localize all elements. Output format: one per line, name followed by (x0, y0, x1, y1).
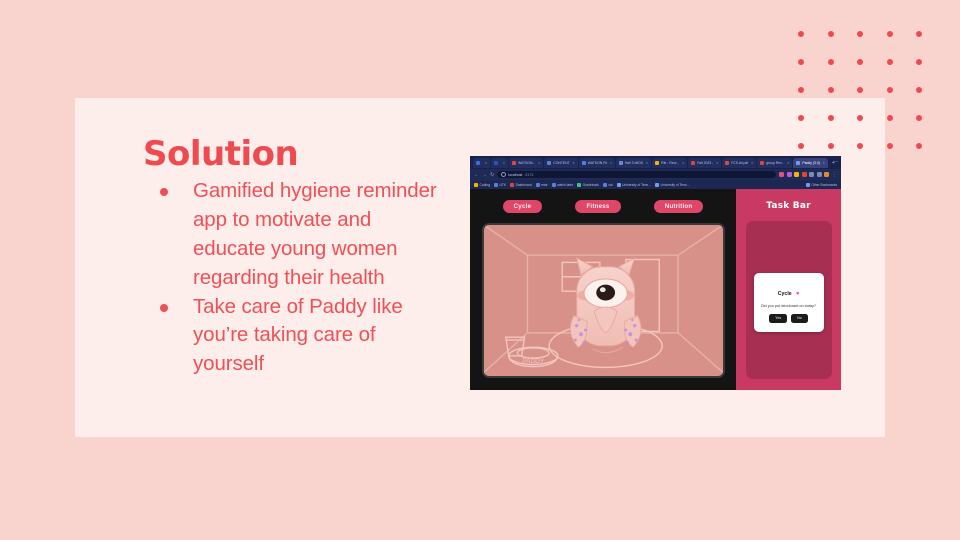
task-card[interactable]: Cycle ♥ Did you put deodorant on today? … (754, 273, 824, 332)
bowl-label: PADDY (522, 358, 545, 365)
paddy-room-illustration: PADDY (484, 225, 723, 376)
other-bookmarks-label: Other Bookmarks (811, 183, 837, 187)
bookmark-item[interactable]: Coding (474, 183, 490, 187)
bullet-text: Take care of Paddy like you’re taking ca… (193, 295, 403, 376)
tab-favicon-icon (619, 161, 623, 165)
bookmark-favicon-icon (603, 183, 607, 187)
decorative-dot (916, 87, 922, 93)
bookmark-label: val (608, 183, 612, 187)
decorative-dot (887, 31, 893, 37)
tab-title: File - Recr... (661, 161, 679, 165)
browser-tab[interactable]: Hall 3 M/DS× (616, 158, 651, 168)
no-button[interactable]: No (791, 314, 808, 323)
extension-icon-row[interactable] (779, 172, 829, 177)
decorative-dot (798, 87, 804, 93)
browser-tab[interactable]: Fall 2023 -× (688, 158, 721, 168)
tab-close-icon[interactable]: × (573, 161, 575, 165)
reload-icon[interactable]: ↻ (490, 172, 494, 178)
forward-icon[interactable]: → (482, 172, 487, 178)
browser-tab-active[interactable]: Paddy (3.0)× (793, 158, 828, 168)
heart-icon: ♥ (796, 291, 799, 297)
browser-tab[interactable]: group Rev...× (757, 158, 792, 168)
task-card-question: Did you put deodorant on today? (759, 304, 819, 309)
extension-icon[interactable] (802, 172, 807, 177)
tab-title: Paddy (3.0) (802, 161, 820, 165)
tab-favicon-icon (582, 161, 586, 165)
task-card-header: Cycle ♥ (759, 282, 819, 300)
browser-tab-strip[interactable]: ××WATSON...×CONTENT×WATSON Fit×Hall 3 M/… (470, 156, 841, 169)
decorative-dot (828, 87, 834, 93)
decorative-dot (828, 31, 834, 37)
decorative-dot (798, 31, 804, 37)
decorative-dot (887, 143, 893, 149)
tab-title: CONTENT (553, 161, 569, 165)
bookmark-item[interactable]: watch later (552, 183, 573, 187)
bookmark-favicon-icon (552, 183, 556, 187)
decorative-dot (857, 87, 863, 93)
tab-favicon-icon (691, 161, 695, 165)
browser-tab[interactable]: × (491, 158, 508, 168)
task-list-container: Cycle ♥ Did you put deodorant on today? … (746, 221, 832, 379)
tab-favicon-icon (476, 161, 480, 165)
extension-icon[interactable] (779, 172, 784, 177)
app-nav-buttons[interactable]: CycleFitnessNutrition (470, 189, 736, 223)
extension-icon[interactable] (817, 172, 822, 177)
decorative-dot (798, 59, 804, 65)
tab-close-icon[interactable]: × (751, 161, 753, 165)
bookmark-label: Gradebook (583, 183, 599, 187)
window-minimize-icon[interactable]: — (834, 158, 838, 163)
web-app-body: CycleFitnessNutrition (470, 189, 841, 390)
url-path: :5173 (524, 173, 533, 177)
browser-tab[interactable]: CONTENT× (544, 158, 577, 168)
bullet-text: Gamified hygiene reminder app to motivat… (193, 179, 437, 288)
extension-icon[interactable] (809, 172, 814, 177)
tab-close-icon[interactable]: × (682, 161, 684, 165)
bookmark-label: watch later (557, 183, 573, 187)
bookmark-label: Coding (480, 183, 490, 187)
tab-title: Hall 3 M/DS (625, 161, 643, 165)
bookmark-label: mstr (541, 183, 547, 187)
tab-favicon-icon (725, 161, 729, 165)
bookmark-item[interactable]: Gradebook (577, 183, 599, 187)
bookmark-item[interactable]: Dashboard (510, 183, 532, 187)
bookmark-item[interactable]: University of Tenn... (617, 183, 651, 187)
bullet-item: Gamified hygiene reminder app to motivat… (143, 177, 443, 292)
nav-button-fitness[interactable]: Fitness (575, 200, 620, 213)
extension-icon[interactable] (787, 172, 792, 177)
task-card-actions: Yes No (759, 314, 819, 323)
nav-button-nutrition[interactable]: Nutrition (654, 200, 704, 213)
tab-title: FCS.txt.pdf (731, 161, 748, 165)
folder-icon (806, 183, 810, 187)
app-main-area: CycleFitnessNutrition (470, 189, 736, 390)
bookmark-item[interactable]: University of Tenn... (655, 183, 689, 187)
site-info-icon[interactable] (501, 172, 506, 177)
bookmark-label: University of Tenn... (661, 183, 690, 187)
decorative-dot (916, 115, 922, 121)
tab-favicon-icon (547, 161, 551, 165)
tab-close-icon[interactable]: × (646, 161, 648, 165)
task-bar-title: Task Bar (766, 201, 811, 211)
extension-icon[interactable] (824, 172, 829, 177)
task-card-title: Cycle (778, 291, 792, 297)
browser-tab[interactable]: WATSON...× (509, 158, 543, 168)
bookmark-label: Dashboard (516, 183, 532, 187)
task-bar-panel: Task Bar Cycle ♥ Did you put deodorant o… (736, 189, 841, 390)
decorative-dot (916, 143, 922, 149)
decorative-dot (857, 31, 863, 37)
bookmark-favicon-icon (536, 183, 540, 187)
tab-favicon-icon (494, 161, 498, 165)
tab-title: WATSON... (518, 161, 535, 165)
tab-favicon-icon (512, 161, 516, 165)
decorative-dot (887, 87, 893, 93)
decorative-dot (857, 59, 863, 65)
browser-menu-icon[interactable]: ⋮ (832, 172, 837, 178)
bullet-list: Gamified hygiene reminder app to motivat… (143, 177, 443, 379)
bullet-dot-icon (160, 188, 168, 196)
bookmark-favicon-icon (577, 183, 581, 187)
tab-close-icon[interactable]: × (716, 161, 718, 165)
tab-close-icon[interactable]: × (610, 161, 612, 165)
decorative-dot (828, 59, 834, 65)
bookmark-favicon-icon (655, 183, 659, 187)
bookmark-item[interactable]: val (603, 183, 613, 187)
tab-close-icon[interactable]: × (485, 161, 487, 165)
decorative-dot (916, 59, 922, 65)
browser-window-screenshot: ××WATSON...×CONTENT×WATSON Fit×Hall 3 M/… (470, 156, 841, 390)
tab-title: group Rev... (766, 161, 784, 165)
bookmark-label: University of Tenn... (622, 183, 651, 187)
tab-title: WATSON Fit (588, 161, 607, 165)
bullet-dot-icon (160, 304, 168, 312)
page-title: Solution (143, 136, 443, 173)
browser-tab[interactable]: File - Recr...× (652, 158, 687, 168)
browser-tab[interactable]: FCS.txt.pdf× (722, 158, 756, 168)
bookmark-favicon-icon (510, 183, 514, 187)
tab-favicon-icon (655, 161, 659, 165)
bookmark-favicon-icon (494, 183, 498, 187)
tab-close-icon[interactable]: × (787, 161, 789, 165)
bookmark-item[interactable]: UTK (494, 183, 506, 187)
browser-tab[interactable]: WATSON Fit× (579, 158, 615, 168)
extension-icon[interactable] (794, 172, 799, 177)
decorative-dot (916, 31, 922, 37)
url-host: localhost (508, 173, 522, 177)
tab-close-icon[interactable]: × (538, 161, 540, 165)
tab-favicon-icon (796, 161, 800, 165)
browser-tab[interactable]: × (473, 158, 490, 168)
browser-chrome: ××WATSON...×CONTENT×WATSON Fit×Hall 3 M/… (470, 156, 841, 189)
tab-title: Fall 2023 - (697, 161, 713, 165)
yes-button[interactable]: Yes (769, 314, 787, 323)
address-bar[interactable]: localhost :5173 (497, 171, 776, 179)
bullet-item: Take care of Paddy like you’re taking ca… (143, 293, 443, 379)
pet-scene-frame: PADDY (482, 223, 725, 378)
tab-close-icon[interactable]: × (503, 161, 505, 165)
decorative-dot (887, 115, 893, 121)
bookmark-favicon-icon (617, 183, 621, 187)
back-icon[interactable]: ← (474, 172, 479, 178)
nav-button-cycle[interactable]: Cycle (503, 200, 543, 213)
other-bookmarks-item[interactable]: Other Bookmarks (806, 183, 837, 187)
slide-text-column: Solution Gamified hygiene reminder app t… (143, 136, 443, 379)
bookmark-favicon-icon (474, 183, 478, 187)
bookmark-item[interactable]: mstr (536, 183, 548, 187)
browser-url-row: ← → ↻ localhost :5173 ⋮ (470, 169, 841, 180)
decorative-dot (887, 59, 893, 65)
bookmark-label: UTK (499, 183, 506, 187)
tab-favicon-icon (760, 161, 764, 165)
tab-close-icon[interactable]: × (823, 161, 825, 165)
